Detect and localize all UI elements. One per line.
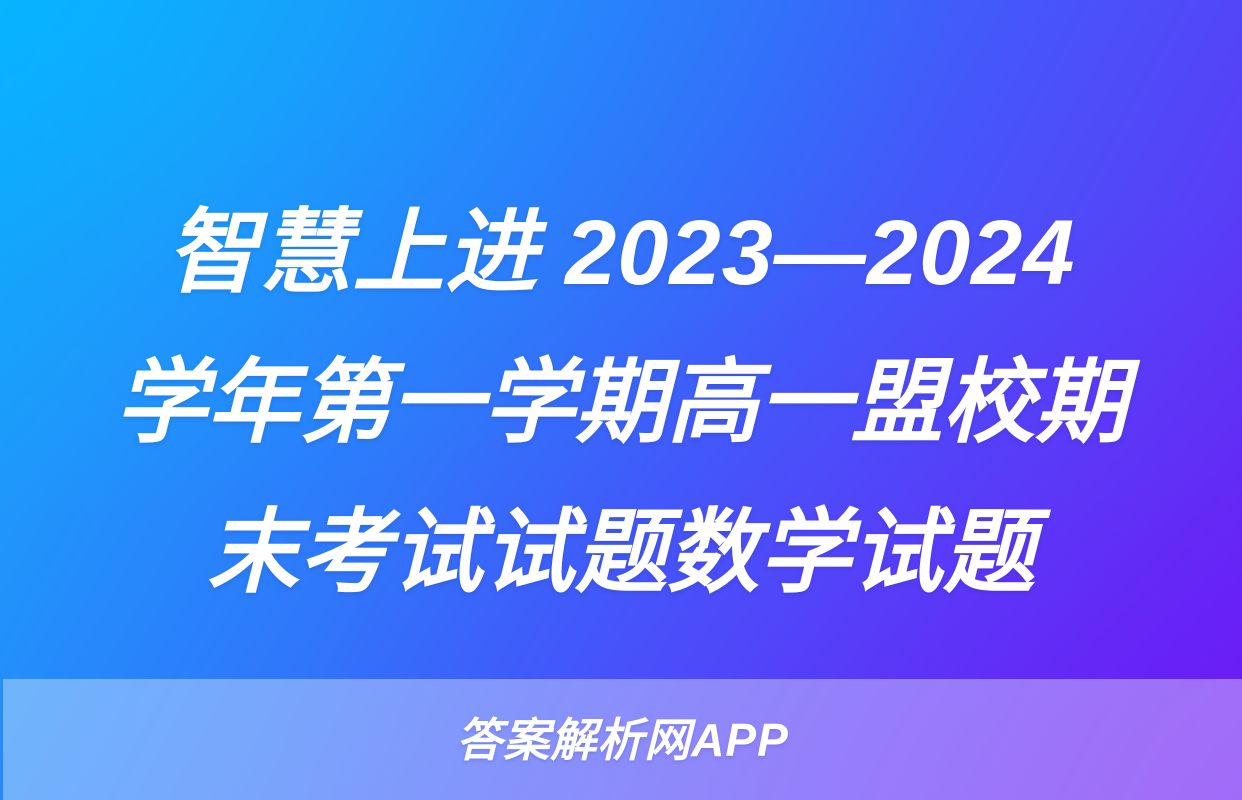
watermark-label: 答案解析网APP xyxy=(456,717,789,763)
watermark-band: 答案解析网APP xyxy=(3,679,1242,800)
title-line-1: 智慧上进 2023—2024 xyxy=(48,178,1194,328)
cover-title-block: 智慧上进 2023—2024 学年第一学期高一盟校期 末考试试题数学试题 xyxy=(0,178,1242,628)
title-line-3: 末考试试题数学试题 xyxy=(48,478,1194,628)
cover-image: 智慧上进 2023—2024 学年第一学期高一盟校期 末考试试题数学试题 答案解… xyxy=(0,0,1242,800)
title-line-2: 学年第一学期高一盟校期 xyxy=(48,328,1194,478)
